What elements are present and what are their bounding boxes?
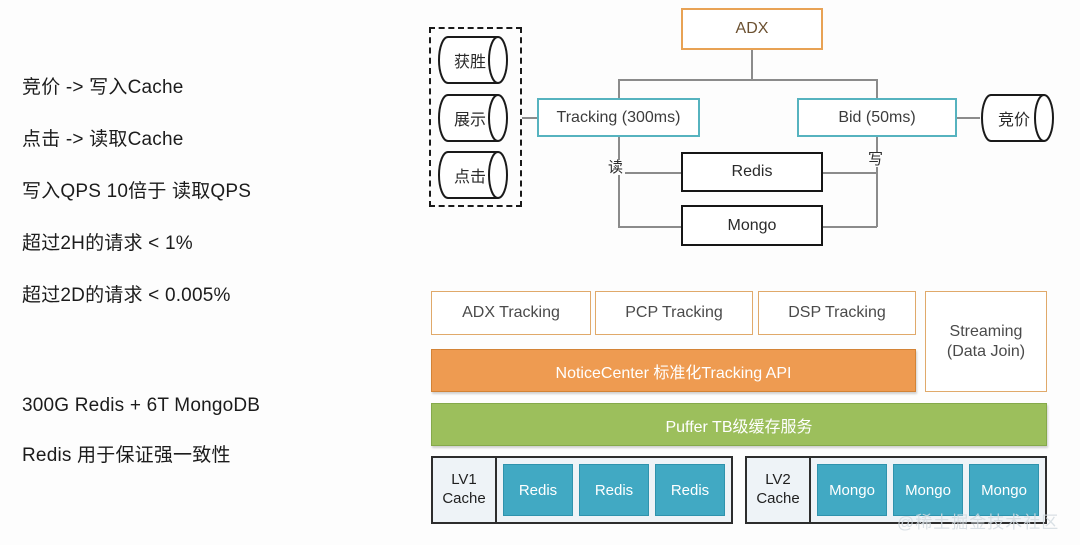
connector-redis-to-bid [823, 172, 877, 174]
connector-adx-down [751, 50, 753, 80]
bidding-store-label: 竞价 [980, 94, 1048, 142]
lv2-cache-group: LV2 Cache Mongo Mongo Mongo [745, 456, 1047, 524]
left-notes-panel: 竞价 -> 写入Cache 点击 -> 读取Cache 写入QPS 10倍于 读… [0, 0, 420, 545]
connector-mongo-to-bid [823, 226, 877, 228]
noticecenter-api-bar[interactable]: NoticeCenter 标准化Tracking API [431, 349, 916, 392]
lv1-cache-group: LV1 Cache Redis Redis Redis [431, 456, 733, 524]
source-label-click: 点击 [438, 151, 502, 199]
connector-bus-to-tracking [618, 79, 620, 99]
bid-node[interactable]: Bid (50ms) [797, 98, 957, 137]
connector-tracking-to-redis [618, 172, 682, 174]
tracking-node[interactable]: Tracking (300ms) [537, 98, 700, 137]
connector-tracking-spine [618, 136, 620, 227]
streaming-line-1: Streaming [950, 322, 1023, 342]
bidding-store-cylinder: 竞价 [980, 94, 1058, 142]
note-line-6: 300G Redis + 6T MongoDB [22, 395, 260, 417]
dsp-tracking-box[interactable]: DSP Tracking [758, 291, 916, 335]
adx-tracking-box[interactable]: ADX Tracking [431, 291, 591, 335]
puffer-cache-bar[interactable]: Puffer TB级缓存服务 [431, 403, 1047, 446]
edge-label-read: 读 [606, 160, 625, 175]
source-cylinder-win: 获胜 [438, 36, 512, 84]
note-line-3: 写入QPS 10倍于 读取QPS [22, 176, 251, 203]
lv1-node-row: Redis Redis Redis [497, 458, 731, 522]
streaming-box[interactable]: Streaming (Data Join) [925, 291, 1047, 392]
lv2-node-mongo-1[interactable]: Mongo [817, 464, 887, 516]
lv2-label-line-2: Cache [756, 490, 799, 509]
note-line-2: 点击 -> 读取Cache [22, 124, 184, 151]
diagram-canvas: 竞价 -> 写入Cache 点击 -> 读取Cache 写入QPS 10倍于 读… [0, 0, 1080, 545]
lv2-node-mongo-3[interactable]: Mongo [969, 464, 1039, 516]
adx-node[interactable]: ADX [681, 8, 823, 50]
connector-tracking-to-mongo [618, 226, 682, 228]
lv1-node-redis-1[interactable]: Redis [503, 464, 573, 516]
lv1-label-line-1: LV1 [451, 471, 477, 490]
note-line-7: Redis 用于保证强一致性 [22, 440, 231, 467]
note-line-1: 竞价 -> 写入Cache [22, 72, 184, 99]
connector-sources-to-tracking [522, 117, 538, 119]
lv1-node-redis-3[interactable]: Redis [655, 464, 725, 516]
redis-node[interactable]: Redis [681, 152, 823, 192]
lv2-node-mongo-2[interactable]: Mongo [893, 464, 963, 516]
lv1-node-redis-2[interactable]: Redis [579, 464, 649, 516]
note-line-4: 超过2H的请求 < 1% [22, 228, 193, 255]
lv2-label-line-1: LV2 [765, 471, 791, 490]
connector-bid-to-bidding-store [957, 117, 980, 119]
source-cylinder-click: 点击 [438, 151, 512, 199]
note-line-5: 超过2D的请求 < 0.005% [22, 280, 231, 307]
connector-bus-horizontal [618, 79, 876, 81]
connector-bus-to-bid [876, 79, 878, 99]
pcp-tracking-box[interactable]: PCP Tracking [595, 291, 753, 335]
lv1-cache-label: LV1 Cache [433, 458, 497, 522]
source-cylinder-impression: 展示 [438, 94, 512, 142]
lv2-cache-label: LV2 Cache [747, 458, 811, 522]
mongo-node[interactable]: Mongo [681, 205, 823, 246]
lv2-node-row: Mongo Mongo Mongo [811, 458, 1045, 522]
source-label-impression: 展示 [438, 94, 502, 142]
streaming-line-2: (Data Join) [947, 342, 1025, 362]
edge-label-write: 写 [866, 152, 885, 167]
source-label-win: 获胜 [438, 36, 502, 84]
lv1-label-line-2: Cache [442, 490, 485, 509]
